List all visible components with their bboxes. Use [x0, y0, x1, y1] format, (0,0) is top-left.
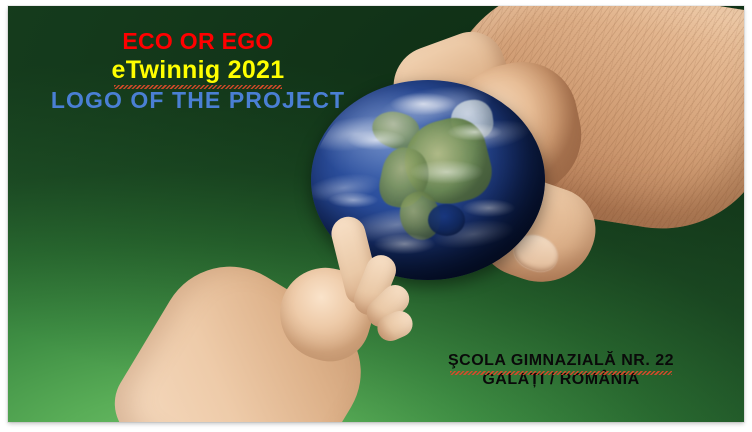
- school-line-1-wrap: ŞCOLA GIMNAZIALĂ NR. 22: [396, 351, 726, 371]
- title-line-2-wrap: eTwinnig 2021: [24, 53, 372, 84]
- title-line-etwinnig: eTwinnig 2021: [112, 58, 285, 84]
- poster-canvas: ECO OR EGO eTwinnig 2021 LOGO OF THE PRO…: [8, 6, 744, 422]
- poster-frame: ECO OR EGO eTwinnig 2021 LOGO OF THE PRO…: [0, 0, 752, 432]
- school-name: ŞCOLA GIMNAZIALĂ NR. 22: [448, 351, 674, 371]
- title-line-logo-of-the-project: LOGO OF THE PROJECT: [24, 89, 372, 112]
- title-block: ECO OR EGO eTwinnig 2021 LOGO OF THE PRO…: [24, 30, 372, 112]
- title-line-eco-or-ego: ECO OR EGO: [24, 30, 372, 53]
- school-credit-block: ŞCOLA GIMNAZIALĂ NR. 22 GALAȚI / ROMÂNIA: [396, 351, 726, 390]
